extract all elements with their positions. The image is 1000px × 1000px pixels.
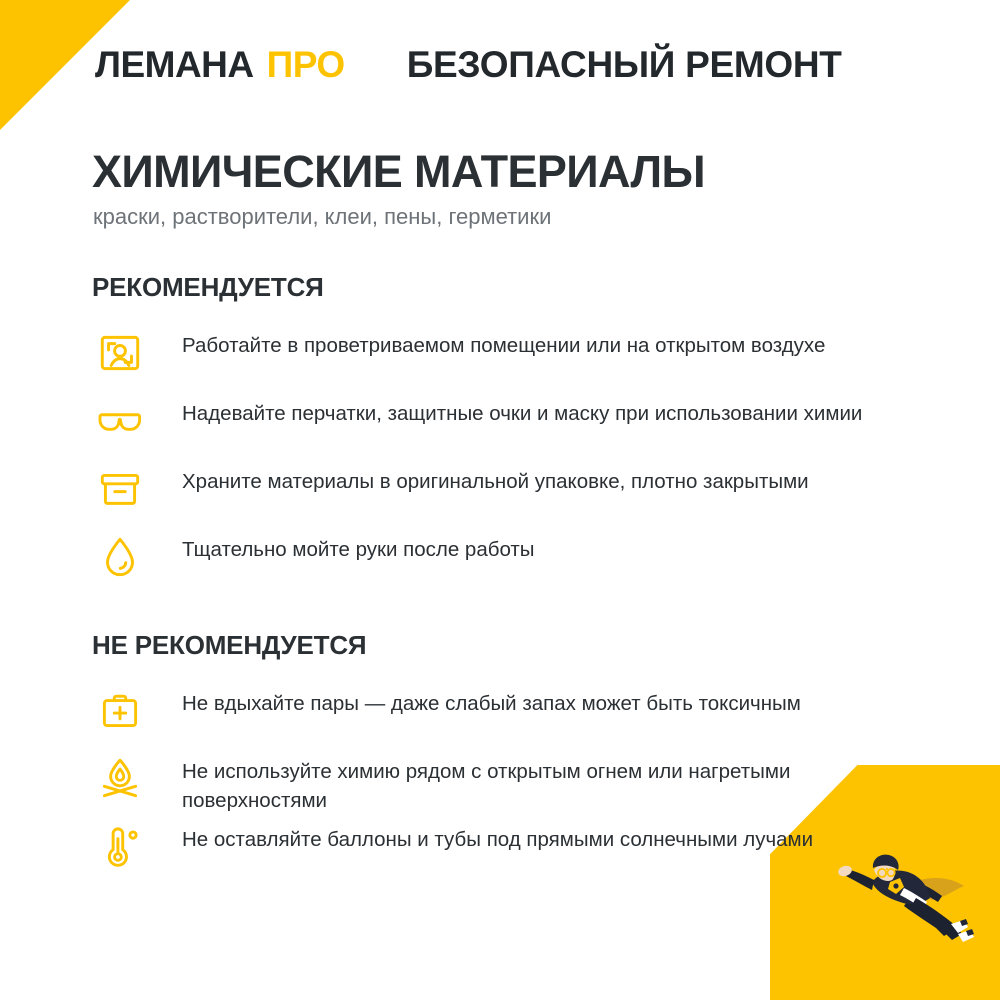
list-item-label: Не используйте химию рядом с открытым ог… <box>182 751 882 815</box>
open-flame-icon <box>92 751 182 807</box>
ventilated-room-icon <box>92 325 182 381</box>
list-item: Работайте в проветриваемом помещении или… <box>92 325 942 389</box>
water-drop-icon <box>92 529 182 585</box>
campaign-title: БЕЗОПАСНЫЙ РЕМОНТ <box>407 44 842 86</box>
list-item: Не используйте химию рядом с открытым ог… <box>92 751 942 815</box>
page-title: ХИМИЧЕСКИЕ МАТЕРИАЛЫ <box>92 146 705 198</box>
rules-list-recommended: Работайте в проветриваемом помещении или… <box>92 325 942 597</box>
thermometer-icon <box>92 819 182 875</box>
list-item-label: Тщательно мойте руки после работы <box>182 529 535 564</box>
list-item-label: Работайте в проветриваемом помещении или… <box>182 325 825 360</box>
flying-superhero-mascot <box>812 832 982 952</box>
safety-goggles-icon <box>92 393 182 449</box>
logo-text-secondary: ПРО <box>267 44 345 86</box>
list-item: Надевайте перчатки, защитные очки и маск… <box>92 393 942 457</box>
list-item: Храните материалы в оригинальной упаковк… <box>92 461 942 525</box>
logo-text-primary: ЛЕМАНА <box>95 44 254 86</box>
brand-logo: ЛЕМАНА ПРО <box>95 44 345 86</box>
list-item-label: Не оставляйте баллоны и тубы под прямыми… <box>182 819 813 854</box>
list-item-label: Храните материалы в оригинальной упаковк… <box>182 461 809 496</box>
section-heading-not-recommended: НЕ РЕКОМЕНДУЕТСЯ <box>92 630 942 661</box>
list-item: Не вдыхайте пары — даже слабый запах мож… <box>92 683 942 747</box>
page-header: ЛЕМАНА ПРО БЕЗОПАСНЫЙ РЕМОНТ <box>95 36 960 94</box>
page-subtitle: краски, растворители, клеи, пены, гермет… <box>93 204 551 230</box>
first-aid-kit-icon <box>92 683 182 739</box>
list-item: Тщательно мойте руки после работы <box>92 529 942 593</box>
section-recommended: РЕКОМЕНДУЕТСЯ Работайте в проветриваемом… <box>92 272 942 597</box>
section-heading-recommended: РЕКОМЕНДУЕТСЯ <box>92 272 942 303</box>
list-item-label: Надевайте перчатки, защитные очки и маск… <box>182 393 862 428</box>
list-item-label: Не вдыхайте пары — даже слабый запах мож… <box>182 683 801 718</box>
storage-box-icon <box>92 461 182 517</box>
